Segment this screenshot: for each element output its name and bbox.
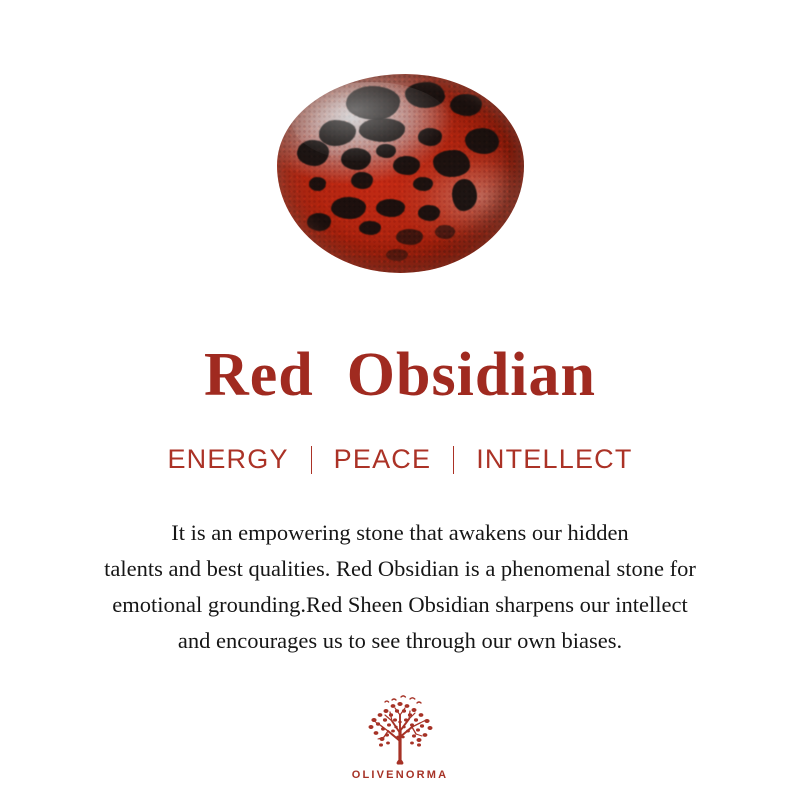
bird-icon	[385, 696, 421, 703]
keyword-intellect: INTELLECT	[476, 444, 632, 475]
stone-image-container	[0, 0, 800, 300]
red-obsidian-cabochon	[277, 74, 524, 273]
keyword-separator	[453, 446, 454, 474]
product-info-card: Red Obsidian ENERGY PEACE INTELLECT It i…	[0, 0, 800, 800]
brand-wordmark: OLIVENORMA	[352, 769, 449, 781]
keyword-list: ENERGY PEACE INTELLECT	[167, 444, 632, 475]
keyword-peace: PEACE	[334, 444, 432, 475]
keyword-energy: ENERGY	[167, 444, 288, 475]
description-text: It is an empowering stone that awakens o…	[40, 515, 760, 659]
description-line: emotional grounding.Red Sheen Obsidian s…	[40, 587, 760, 623]
keyword-separator	[311, 446, 312, 474]
stone-texture-grain	[277, 74, 524, 273]
description-line: It is an empowering stone that awakens o…	[40, 515, 760, 551]
description-line: and encourages us to see through our own…	[40, 623, 760, 659]
page-title: Red Obsidian	[204, 344, 596, 406]
brand-logo: OLIVENORMA	[352, 693, 449, 781]
description-line: talents and best qualities. Red Obsidian…	[40, 551, 760, 587]
tree-icon	[352, 693, 448, 765]
